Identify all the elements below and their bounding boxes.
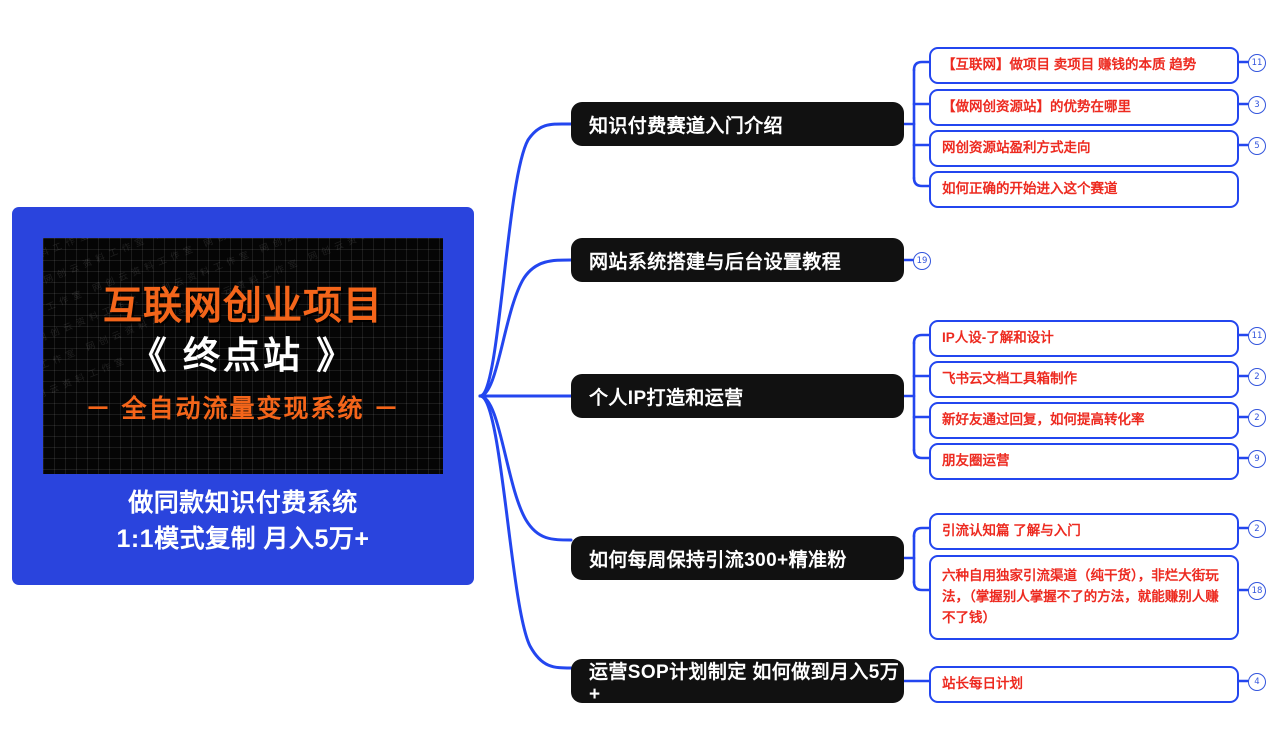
leaf-node-3-1[interactable]: IP人设-了解和设计 — [929, 320, 1239, 357]
wire-elbow-1-4 — [914, 178, 929, 186]
badge-leaf-3-1: 11 — [1248, 327, 1266, 345]
branch-node-4[interactable]: 如何每周保持引流300+精准粉 — [571, 536, 904, 580]
root-caption-line2: 1:1模式复制 月入5万+ — [12, 521, 474, 557]
root-node[interactable]: 网创云资料工作室 网创云资料工作室 网创云资料工作室 网创云资料工作室 网创云资… — [12, 207, 474, 585]
wire-elbow-4-1 — [914, 528, 929, 536]
wire-elbow-4-2 — [914, 582, 929, 590]
badge-leaf-1-1: 11 — [1248, 54, 1266, 72]
badge-leaf-1-3: 5 — [1248, 137, 1266, 155]
wire-root-branch-2 — [480, 260, 571, 396]
wire-root-branch-5 — [480, 396, 571, 668]
leaf-node-1-4[interactable]: 如何正确的开始进入这个赛道 — [929, 171, 1239, 208]
branch-node-5[interactable]: 运营SOP计划制定 如何做到月入5万+ — [571, 659, 904, 703]
poster-title-line3: － 全自动流量变现系统 － — [86, 389, 401, 425]
leaf-node-5-1[interactable]: 站长每日计划 — [929, 666, 1239, 703]
wire-root-branch-4 — [480, 396, 571, 540]
leaf-node-4-2[interactable]: 六种自用独家引流渠道（纯干货），非烂大街玩法，（掌握别人掌握不了的方法，就能赚别… — [929, 555, 1239, 640]
wire-elbow-3-1 — [914, 335, 929, 343]
leaf-node-3-2[interactable]: 飞书云文档工具箱制作 — [929, 361, 1239, 398]
branch-node-1[interactable]: 知识付费赛道入门介绍 — [571, 102, 904, 146]
poster-title-line2: 《 终点站 》 — [130, 334, 357, 378]
leaf-node-3-3[interactable]: 新好友通过回复，如何提高转化率 — [929, 402, 1239, 439]
root-poster-image: 网创云资料工作室 网创云资料工作室 网创云资料工作室 网创云资料工作室 网创云资… — [43, 238, 443, 474]
badge-leaf-3-2: 2 — [1248, 368, 1266, 386]
badge-branch-2: 19 — [913, 252, 931, 270]
leaf-node-1-2[interactable]: 【做网创资源站】的优势在哪里 — [929, 89, 1239, 126]
badge-leaf-3-4: 9 — [1248, 450, 1266, 468]
badge-leaf-1-2: 3 — [1248, 96, 1266, 114]
root-caption-line1: 做同款知识付费系统 — [12, 485, 474, 521]
badge-leaf-4-1: 2 — [1248, 520, 1266, 538]
root-caption: 做同款知识付费系统 1:1模式复制 月入5万+ — [12, 485, 474, 558]
wire-root-branch-1 — [480, 124, 571, 396]
branch-node-3[interactable]: 个人IP打造和运营 — [571, 374, 904, 418]
badge-leaf-3-3: 2 — [1248, 409, 1266, 427]
wire-elbow-3-4 — [914, 450, 929, 458]
branch-node-2[interactable]: 网站系统搭建与后台设置教程 — [571, 238, 904, 282]
leaf-node-3-4[interactable]: 朋友圈运营 — [929, 443, 1239, 480]
leaf-node-4-1[interactable]: 引流认知篇 了解与入门 — [929, 513, 1239, 550]
wire-elbow-1-1 — [914, 62, 929, 70]
badge-leaf-5-1: 4 — [1248, 673, 1266, 691]
poster-title-line1: 互联网创业项目 — [103, 287, 383, 328]
leaf-node-1-3[interactable]: 网创资源站盈利方式走向 — [929, 130, 1239, 167]
mindmap-canvas: 网创云资料工作室 网创云资料工作室 网创云资料工作室 网创云资料工作室 网创云资… — [0, 0, 1278, 750]
badge-leaf-4-2: 18 — [1248, 582, 1266, 600]
leaf-node-1-1[interactable]: 【互联网】做项目 卖项目 赚钱的本质 趋势 — [929, 47, 1239, 84]
